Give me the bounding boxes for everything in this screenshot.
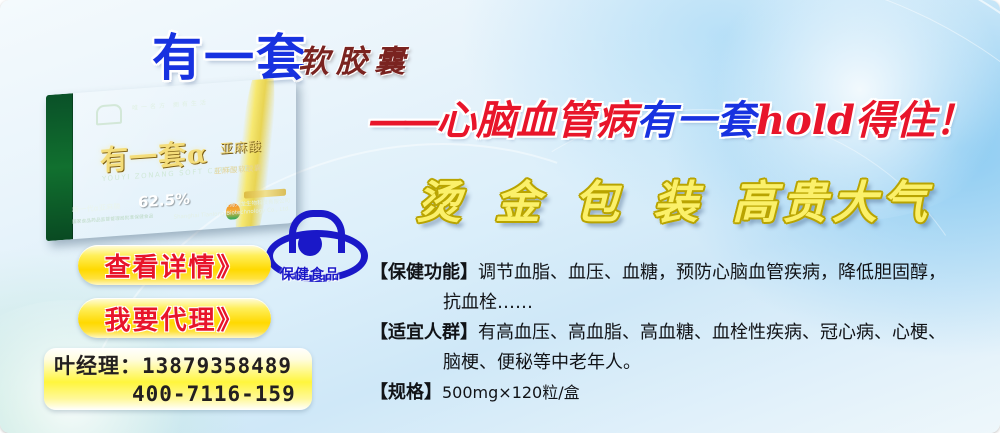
spec-row-audience-2: 脑梗、便秘等中老年人。 <box>370 348 970 378</box>
become-agent-button[interactable]: 我要代理》 <box>78 298 271 338</box>
spec-row-size: 【规格】500mg×120粒/盒 <box>370 378 970 408</box>
package-front-face: 唯一名方 拥有生活 有一套α 亚麻酸 YOUYI ZONANG SOFT CAP… <box>46 77 296 241</box>
product-specifications: 【保健功能】调节血脂、血压、血糖，预防心脑血管疾病，降低胆固醇， 抗血栓…… 【… <box>370 258 970 408</box>
contact-mobile-number[interactable]: 13879358489 <box>142 354 292 378</box>
spec-label-audience: 【适宜人群】 <box>370 322 478 343</box>
spec-row-function-2: 抗血栓…… <box>370 288 970 318</box>
gold-packaging-slogan: 烫金包装高贵大气 <box>416 166 932 231</box>
tagline-red-second: hold得住！ <box>756 97 975 144</box>
package-alpha-symbol: α <box>187 139 208 171</box>
product-package-image: 唯一名方 拥有生活 有一套α 亚麻酸 YOUYI ZONANG SOFT CAP… <box>46 86 296 232</box>
advertisement-banner: 有一套 软胶囊 ——心脑血管病有一套hold得住！ 烫金包装高贵大气 唯一名方 … <box>0 0 1000 433</box>
contact-line-primary: 叶经理：13879358489 <box>44 352 312 380</box>
spec-value-size: 500mg×120粒/盒 <box>442 383 580 402</box>
spec-label-function: 【保健功能】 <box>370 262 478 283</box>
view-details-label: 查看详情》 <box>104 247 244 284</box>
tagline-dash: —— <box>368 97 436 144</box>
package-brand-subname: 亚麻酸 <box>220 135 262 157</box>
spec-value-audience-line2: 脑梗、便秘等中老年人。 <box>443 352 641 373</box>
spec-row-audience-1: 【适宜人群】有高血压、高血脂、高血糖、血栓性疾病、冠心病、心梗、 <box>370 318 970 348</box>
contact-panel[interactable]: 叶经理：13879358489 400-7116-159 <box>44 348 312 410</box>
spec-value-audience-line1: 有高血压、高血脂、高血糖、血栓性疾病、冠心病、心梗、 <box>478 322 946 343</box>
health-food-label: 保健食品 <box>262 264 358 284</box>
spec-value-function-line2: 抗血栓…… <box>443 292 533 313</box>
package-side-panel <box>46 93 73 241</box>
contact-line-secondary: 400-7116-159 <box>44 380 312 408</box>
tagline-red-first: 心脑血管病 <box>436 97 636 144</box>
spec-row-function-1: 【保健功能】调节血脂、血压、血糖，预防心脑血管疾病，降低胆固醇， <box>370 258 970 288</box>
become-agent-label: 我要代理》 <box>104 300 244 337</box>
gold-slogan-right: 高贵大气 <box>732 176 932 229</box>
headline-tagline: ——心脑血管病有一套hold得住！ <box>368 88 975 146</box>
health-food-dot-icon <box>298 232 322 256</box>
health-food-approval-icon: 保健食品 <box>262 208 358 286</box>
contact-hotline-number[interactable]: 400-7116-159 <box>132 382 296 406</box>
tagline-blue: 有一套 <box>636 97 756 144</box>
spec-label-size: 【规格】 <box>370 382 442 403</box>
package-brand-icon <box>92 102 122 126</box>
contact-person-label: 叶经理： <box>54 354 142 378</box>
spec-value-function-line1: 调节血脂、血压、血糖，预防心脑血管疾病，降低胆固醇， <box>478 262 946 283</box>
product-form-subtitle: 软胶囊 <box>298 36 412 81</box>
gold-slogan-left: 烫金包装 <box>416 176 732 229</box>
view-details-button[interactable]: 查看详情》 <box>78 245 271 285</box>
